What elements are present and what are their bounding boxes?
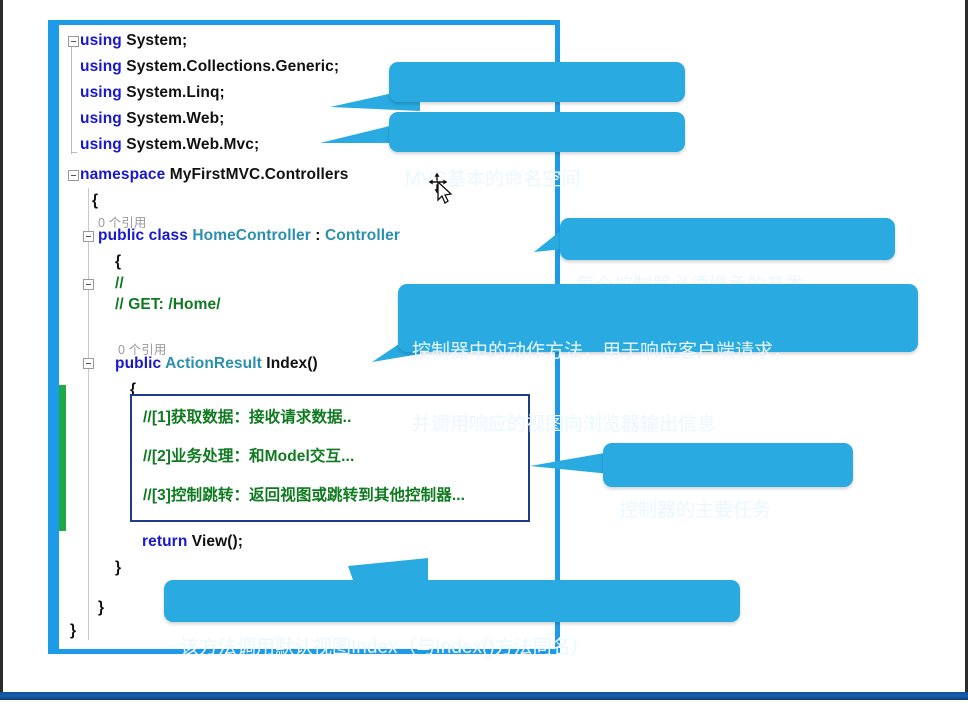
callout-tail-main-task: [530, 452, 610, 488]
code-token: return: [142, 533, 192, 550]
window-left-edge: [0, 0, 3, 692]
code-token: using: [80, 84, 126, 101]
code-line-using-collections[interactable]: using System.Collections.Generic;: [80, 58, 339, 76]
code-token: // GET: /Home/: [115, 296, 221, 313]
collapse-toggle-usings[interactable]: [68, 36, 79, 47]
code-token: using: [80, 110, 126, 127]
code-token: using: [80, 58, 126, 75]
code-token: using: [80, 32, 126, 49]
code-token: //: [115, 275, 124, 292]
code-token: Controller: [325, 227, 400, 244]
using-block-guide: [71, 42, 72, 154]
code-line-return-view[interactable]: return View();: [142, 533, 243, 551]
callout-action-method-line-1: 控制器中的动作方法，用于响应客户端请求，: [412, 340, 904, 364]
move-cursor: [428, 172, 458, 206]
code-token: System.Web;: [126, 110, 224, 127]
code-token: using: [80, 136, 126, 153]
collapse-toggle-class[interactable]: [83, 231, 94, 242]
code-token: :: [311, 227, 325, 244]
code-token: public: [115, 355, 165, 372]
code-line-using-system[interactable]: using System;: [80, 32, 187, 50]
comment-step-1[interactable]: //[1]获取数据：接收请求数据..: [143, 405, 351, 427]
code-line-using-linq[interactable]: using System.Linq;: [80, 84, 225, 102]
code-token: }: [70, 622, 76, 639]
code-line-index-close[interactable]: }: [115, 559, 121, 577]
code-token: }: [98, 599, 104, 616]
code-line-namespace-close[interactable]: }: [70, 622, 76, 640]
code-line-class-open[interactable]: {: [115, 253, 121, 271]
callout-action-method: 控制器中的动作方法，用于响应客户端请求， 并调用响应的视图向浏览器输出信息: [398, 284, 918, 352]
callout-aspnet-core-namespace: ASP.NET核心命名空间: [389, 62, 685, 102]
code-token: ActionResult: [165, 355, 262, 372]
callout-main-task-line-1: 控制器的主要任务: [619, 499, 837, 523]
code-line-comment-empty[interactable]: //: [115, 275, 124, 293]
code-token: System.Collections.Generic;: [126, 58, 339, 75]
code-token: namespace: [80, 166, 170, 183]
callout-base-class: 每个控制器必须继承的基类: [560, 218, 895, 260]
using-block-guide-foot: [71, 152, 77, 153]
collapse-toggle-index-method[interactable]: [83, 358, 94, 369]
code-token: {: [115, 253, 121, 270]
indent-guide: [88, 188, 89, 640]
callout-default-view-line-1: 该方法调用默认视图Index（与Index()方法同名）: [180, 636, 724, 660]
code-token: public class: [98, 227, 192, 244]
code-token: System.Linq;: [126, 84, 225, 101]
callout-mvc-basic-namespace: MVC基本的命名空间: [389, 112, 685, 152]
code-line-index-signature[interactable]: public ActionResult Index(): [115, 355, 318, 373]
comment-step-2[interactable]: //[2]业务处理：和Model交互...: [143, 444, 354, 466]
callout-controller-main-task: 控制器的主要任务: [603, 443, 853, 487]
callout-default-view-index: 该方法调用默认视图Index（与Index()方法同名）: [164, 580, 740, 622]
code-line-class-close[interactable]: }: [98, 599, 104, 617]
comment-step-3[interactable]: //[3]控制跳转：返回视图或跳转到其他控制器...: [143, 483, 465, 505]
editor-change-bar: [59, 385, 66, 531]
code-token: {: [92, 192, 98, 209]
code-line-namespace-open[interactable]: {: [92, 192, 98, 210]
code-line-class-decl[interactable]: public class HomeController : Controller: [98, 227, 400, 245]
code-token: Index(): [262, 355, 318, 372]
collapse-toggle-comment[interactable]: [83, 279, 94, 290]
code-token: System.Web.Mvc;: [126, 136, 259, 153]
code-line-comment-get-home[interactable]: // GET: /Home/: [115, 296, 221, 314]
code-token: View();: [192, 533, 243, 550]
collapse-toggle-namespace[interactable]: [68, 170, 79, 181]
code-line-using-web-mvc[interactable]: using System.Web.Mvc;: [80, 136, 259, 154]
code-token: MyFirstMVC.Controllers: [170, 166, 349, 183]
code-token: HomeController: [192, 227, 311, 244]
window-bottom-chrome: [0, 692, 968, 700]
code-line-namespace[interactable]: namespace MyFirstMVC.Controllers: [80, 166, 349, 184]
window-bottom-filler: [0, 700, 968, 706]
screenshot-stage: using System; using System.Collections.G…: [0, 0, 968, 706]
callout-action-method-line-2: 并调用响应的视图向浏览器输出信息: [412, 413, 904, 437]
code-token: }: [115, 559, 121, 576]
editor-gutter-highlight: [53, 25, 59, 649]
code-line-using-web[interactable]: using System.Web;: [80, 110, 224, 128]
code-token: System;: [126, 32, 187, 49]
